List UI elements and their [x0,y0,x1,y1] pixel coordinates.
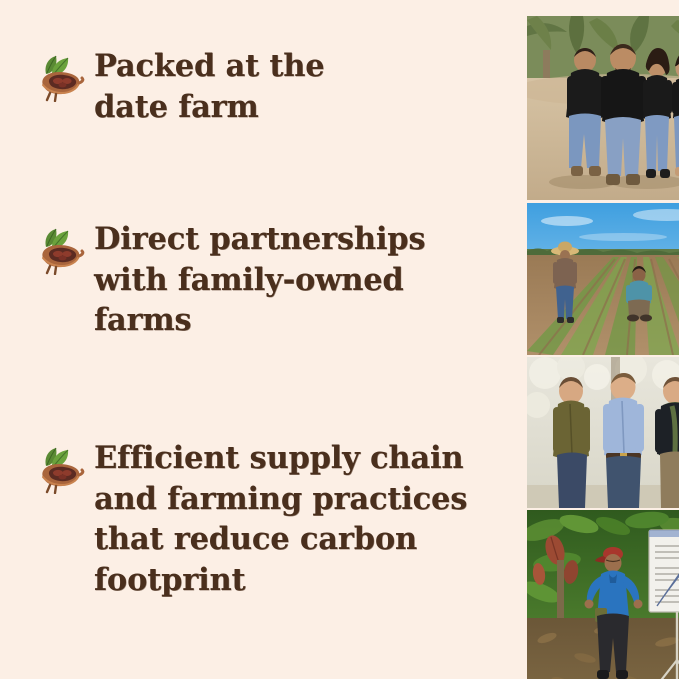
cacao-pod-icon [34,444,86,494]
benefit-text: Packed at the date farm [94,46,324,127]
benefit-item: Efficient supply chain and farming pract… [34,438,467,600]
photo-two-farmers-in-field [527,203,679,355]
benefits-infographic: Packed at the date farm [0,0,679,679]
cacao-pod-icon [34,225,86,275]
photo-strip [487,0,679,679]
benefit-item: Packed at the date farm [34,46,324,127]
benefit-item: Direct partnerships with family-owned fa… [34,219,425,341]
photo-family-at-date-farm [527,16,679,200]
benefit-text: Efficient supply chain and farming pract… [94,438,467,600]
benefit-text: Direct partnerships with family-owned fa… [94,219,425,341]
photo-three-men-outdoors [527,357,679,508]
photo-cacao-farmer-presentation [527,510,679,679]
cacao-pod-icon [34,52,86,102]
benefits-panel: Packed at the date farm [0,0,487,679]
